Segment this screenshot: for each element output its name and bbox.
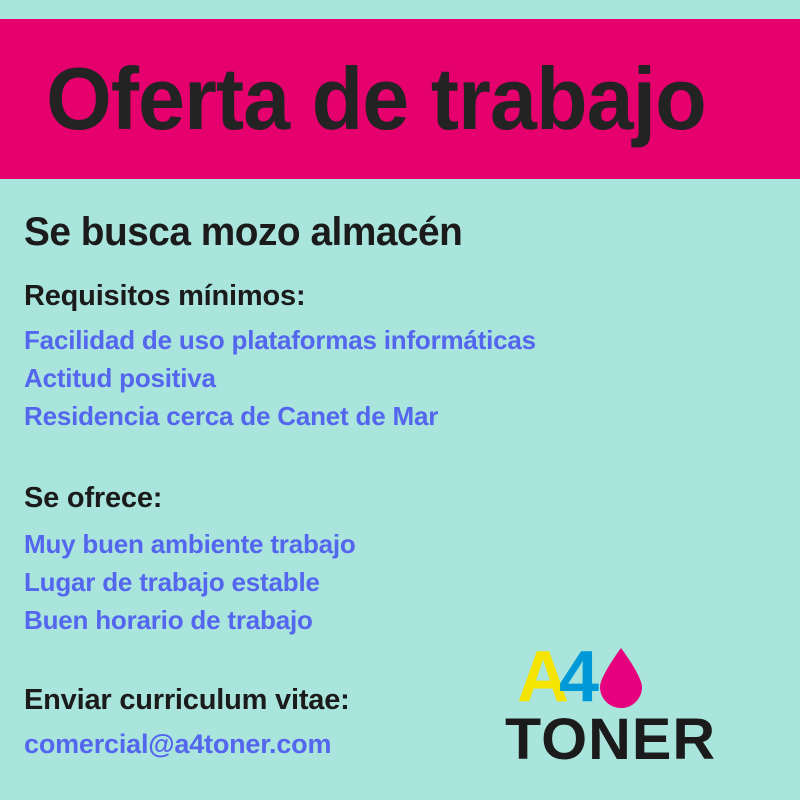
offers-heading: Se ofrece: xyxy=(24,483,776,515)
list-item: Lugar de trabajo estable xyxy=(24,563,776,601)
offers-section: Se ofrece: Muy buen ambiente trabajo Lug… xyxy=(24,483,776,639)
offers-list: Muy buen ambiente trabajo Lugar de traba… xyxy=(24,525,776,639)
logo-mark: A 4 xyxy=(517,645,765,709)
company-logo: A 4 TONER xyxy=(505,645,765,765)
page-title: Oferta de trabajo xyxy=(0,55,706,143)
job-offer-poster: Oferta de trabajo Se busca mozo almacén … xyxy=(0,0,800,800)
list-item: Buen horario de trabajo xyxy=(24,601,776,639)
job-subtitle: Se busca mozo almacén xyxy=(24,211,753,253)
requirements-section: Requisitos mínimos: Facilidad de uso pla… xyxy=(24,281,776,435)
list-item: Muy buen ambiente trabajo xyxy=(24,525,776,563)
list-item: Actitud positiva xyxy=(24,359,776,397)
logo-digit-4: 4 xyxy=(559,645,596,709)
logo-wordmark: TONER xyxy=(505,709,716,771)
requirements-heading: Requisitos mínimos: xyxy=(24,281,776,313)
header-banner: Oferta de trabajo xyxy=(0,19,800,179)
list-item: Residencia cerca de Canet de Mar xyxy=(24,397,776,435)
ink-droplet-icon xyxy=(597,648,645,708)
requirements-list: Facilidad de uso plataformas informática… xyxy=(24,321,776,435)
list-item: Facilidad de uso plataformas informática… xyxy=(24,321,776,359)
